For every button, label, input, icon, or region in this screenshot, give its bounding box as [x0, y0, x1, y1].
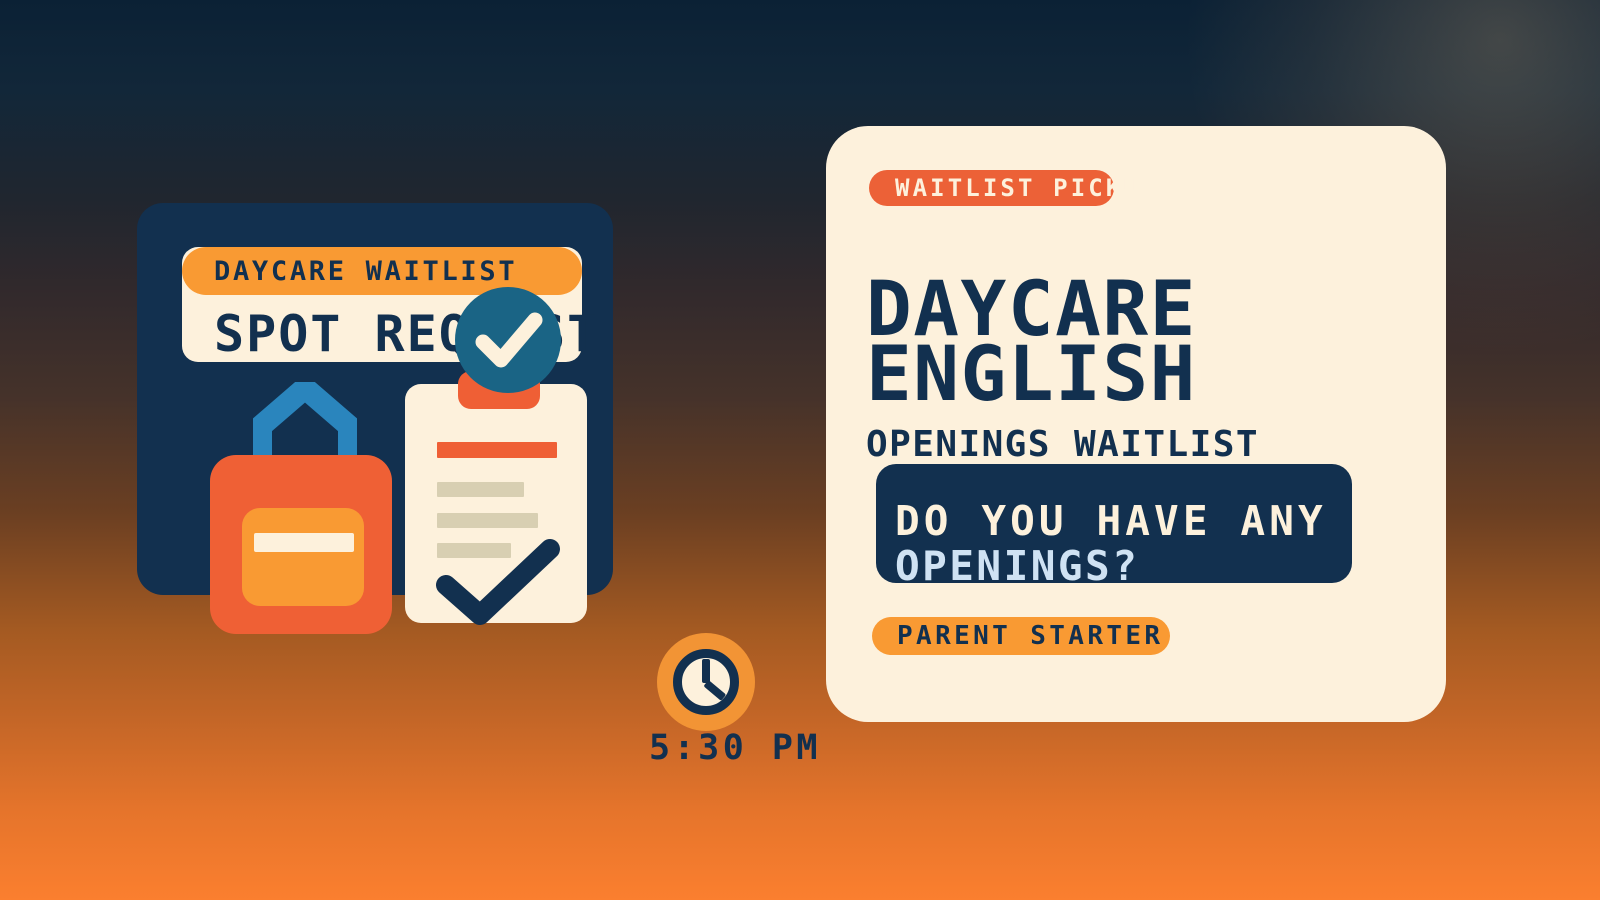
backpack-pocket-icon [242, 508, 364, 606]
waitlist-pickup-label: WAITLIST PICKUP [895, 174, 1159, 202]
check-circle-icon [455, 287, 561, 393]
headline: DAYCARE ENGLISH [866, 276, 1197, 407]
clipboard-check-icon [428, 535, 568, 629]
clock-minute-hand [702, 659, 710, 683]
clipboard-body-line [437, 513, 538, 528]
clock-time-label: 5:30 PM [645, 728, 825, 768]
question-line-2: OPENINGS? [895, 542, 1139, 590]
subheadline: OPENINGS WAITLIST [866, 424, 1259, 465]
question-line-1: DO YOU HAVE ANY [895, 497, 1327, 545]
poster-canvas: DAYCARE WAITLIST SPOT REQUEST 5:30 PM WA… [0, 0, 1600, 900]
backpack-stripe-icon [254, 533, 354, 552]
clipboard-heading-line [437, 442, 557, 458]
clipboard-body-line [437, 482, 524, 497]
headline-line-2: ENGLISH [866, 341, 1197, 406]
left-badge-label: DAYCARE WAITLIST [214, 256, 517, 287]
parent-starter-label: PARENT STARTER [897, 621, 1163, 651]
